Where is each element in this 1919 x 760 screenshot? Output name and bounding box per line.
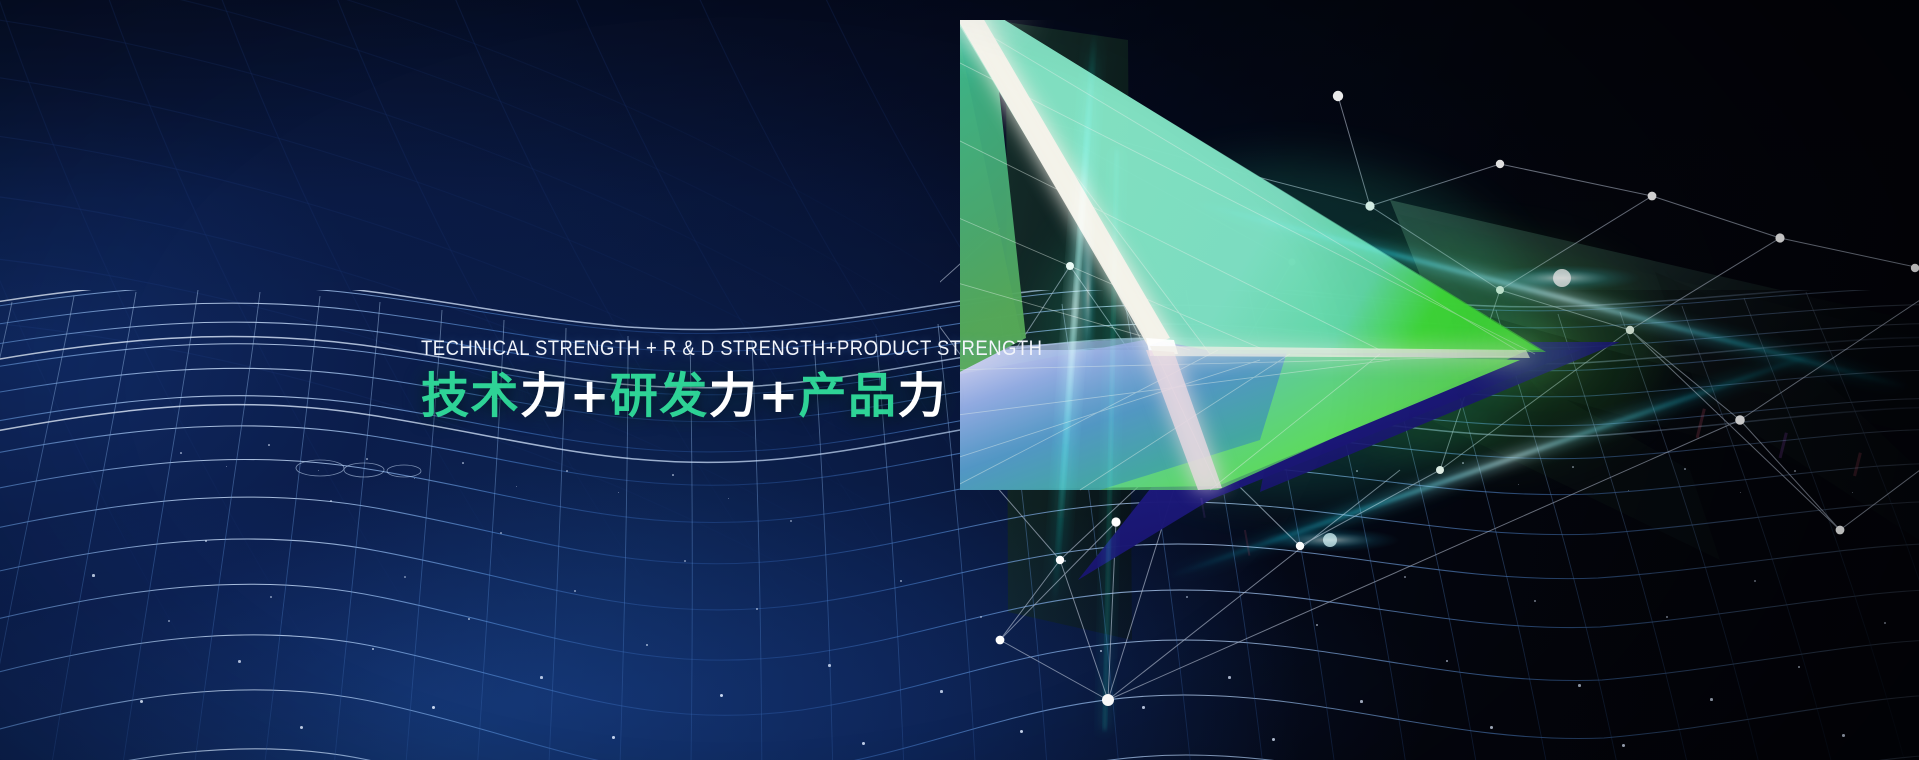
hero-text-block: TECHNICAL STRENGTH + R & D STRENGTH+PROD… — [421, 336, 1041, 424]
headline-seg-6: 产品 — [799, 368, 898, 424]
headline-seg-2: + — [570, 368, 610, 424]
headline-seg-4: 力 — [709, 368, 759, 424]
hero-headline: 技术力+研发力+产品力 — [421, 370, 1041, 424]
hero-banner: TECHNICAL STRENGTH + R & D STRENGTH+PROD… — [0, 0, 1919, 760]
headline-seg-0: 技术 — [421, 368, 520, 424]
headline-seg-5: + — [758, 368, 798, 424]
headline-seg-7: 力 — [898, 368, 948, 424]
hero-subtitle: TECHNICAL STRENGTH + R & D STRENGTH+PROD… — [421, 336, 954, 361]
headline-seg-1: 力 — [520, 368, 570, 424]
headline-seg-3: 研发 — [610, 368, 709, 424]
